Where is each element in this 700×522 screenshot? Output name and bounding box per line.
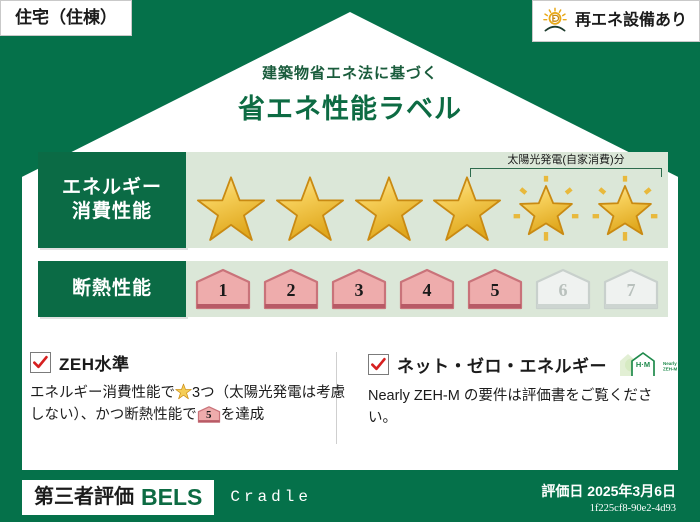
svg-text:H·M: H·M	[636, 360, 650, 369]
house-marker-5: 5	[466, 268, 524, 310]
star-cell	[192, 174, 271, 244]
building-type-label: 住宅（住棟）	[15, 8, 117, 27]
star-cell	[349, 174, 428, 244]
row-energy-performance: エネルギー 消費性能 太陽光発電(自家消費)分	[38, 152, 668, 248]
title-block: 建築物省エネ法に基づく 省エネ性能ラベル	[0, 62, 700, 126]
evaluation-date: 評価日 2025年3月6日	[541, 481, 676, 501]
house-marker-num: 1	[194, 280, 252, 301]
star-cell	[585, 174, 664, 244]
row-insulation-body: 1 2 3	[186, 261, 668, 317]
star-icon-solar	[589, 174, 661, 244]
zeh-heading: ZEH水準	[59, 350, 130, 375]
renewable-badge-label: 再エネ設備あり	[575, 13, 687, 29]
bels-box: 第三者評価 BELS	[22, 480, 214, 515]
house-marker-6: 6	[534, 268, 592, 310]
bottom-bar: 第三者評価 BELS Cradle 評価日 2025年3月6日 1f225cf8…	[0, 472, 700, 522]
evaluation-id: 1f225cf8-90e2-4d93	[541, 503, 676, 514]
star-cell	[507, 174, 586, 244]
house-marker-num: 5	[466, 280, 524, 301]
star-strip	[192, 174, 664, 244]
net-zero-body: Nearly ZEH-M の要件は評価書をご覧ください。	[368, 385, 679, 430]
brand-name: Cradle	[230, 488, 312, 506]
house-marker-num: 7	[602, 280, 660, 301]
star-icon-filled	[274, 174, 346, 244]
zeh-body-part1: エネルギー消費性能で	[30, 385, 175, 401]
info-col-zeh: ZEH水準 エネルギー消費性能で3つ（太陽光発電は考慮しない）、かつ断熱性能で5…	[30, 350, 360, 430]
row-insulation-label: 断熱性能	[38, 261, 186, 317]
zeh-heading-row: ZEH水準	[30, 350, 350, 375]
energy-performance-label: 住宅（住棟） 再エネ設備あり 建築物省エネ法に基づく 省エネ性能ラベル	[0, 0, 700, 522]
house-marker-3: 3	[330, 268, 388, 310]
info-col-net-zero: ネット・ゼロ・エネルギー H·M Nearly ZEH-M Nearly ZEH…	[368, 350, 679, 430]
net-zero-checkbox	[368, 354, 389, 375]
third-party-eval-label: 第三者評価	[34, 487, 134, 507]
metric-rows: エネルギー 消費性能 太陽光発電(自家消費)分	[38, 152, 668, 330]
check-icon	[32, 354, 49, 371]
zeh-body: エネルギー消費性能で3つ（太陽光発電は考慮しない）、かつ断熱性能で5を達成	[30, 382, 350, 427]
title-main: 省エネ性能ラベル	[0, 87, 700, 126]
star-icon-filled	[431, 174, 503, 244]
house-marker-num: 4	[398, 280, 456, 301]
zeh-checkbox	[30, 352, 51, 373]
sun-solar-icon	[541, 7, 569, 35]
bels-label: BELS	[141, 486, 202, 509]
star-cell	[271, 174, 350, 244]
building-type-tag: 住宅（住棟）	[0, 0, 132, 36]
house-marker-1: 1	[194, 268, 252, 310]
star-icon-filled	[195, 174, 267, 244]
house-marker-strip: 1 2 3	[194, 268, 660, 310]
check-icon	[370, 356, 387, 373]
house-marker-7: 7	[602, 268, 660, 310]
solar-annotation: 太陽光発電(自家消費)分	[470, 154, 662, 177]
svg-text:ZEH-M: ZEH-M	[663, 367, 677, 372]
row-insulation-label-line1: 断熱性能	[72, 277, 152, 301]
house-marker-2: 2	[262, 268, 320, 310]
zeh-body-part2: 3つ（太陽光発電	[192, 385, 302, 401]
renewable-equipment-badge: 再エネ設備あり	[532, 0, 700, 42]
star-icon-filled	[353, 174, 425, 244]
net-zero-heading: ネット・ゼロ・エネルギー	[397, 352, 607, 377]
svg-text:Nearly: Nearly	[663, 361, 677, 366]
row-energy-label: エネルギー 消費性能	[38, 152, 186, 248]
info-columns: ZEH水準 エネルギー消費性能で3つ（太陽光発電は考慮しない）、かつ断熱性能で5…	[30, 350, 672, 430]
solar-annotation-bracket	[470, 168, 662, 177]
evaluation-meta: 評価日 2025年3月6日 1f225cf8-90e2-4d93	[541, 481, 676, 514]
house-marker-num: 2	[262, 280, 320, 301]
row-insulation-performance: 断熱性能 1	[38, 261, 668, 317]
star-icon-solar	[510, 174, 582, 244]
house-marker-num: 3	[330, 280, 388, 301]
row-energy-body: 太陽光発電(自家消費)分	[186, 152, 668, 248]
solar-annotation-label: 太陽光発電(自家消費)分	[470, 154, 662, 166]
row-energy-label-line1: エネルギー	[62, 176, 162, 200]
star-cell	[428, 174, 507, 244]
house-marker-4: 4	[398, 268, 456, 310]
zeh-body-part4: を達成	[221, 407, 265, 423]
nearly-zeh-m-logo: H·M Nearly ZEH-M	[617, 350, 679, 378]
inline-house-num: 5	[197, 406, 221, 423]
net-zero-heading-row: ネット・ゼロ・エネルギー H·M Nearly ZEH-M	[368, 350, 679, 378]
inline-house-marker: 5	[197, 406, 221, 423]
inline-star-icon	[175, 383, 192, 400]
house-marker-num: 6	[534, 280, 592, 301]
title-subtitle: 建築物省エネ法に基づく	[0, 62, 700, 83]
row-energy-label-line2: 消費性能	[72, 200, 152, 224]
